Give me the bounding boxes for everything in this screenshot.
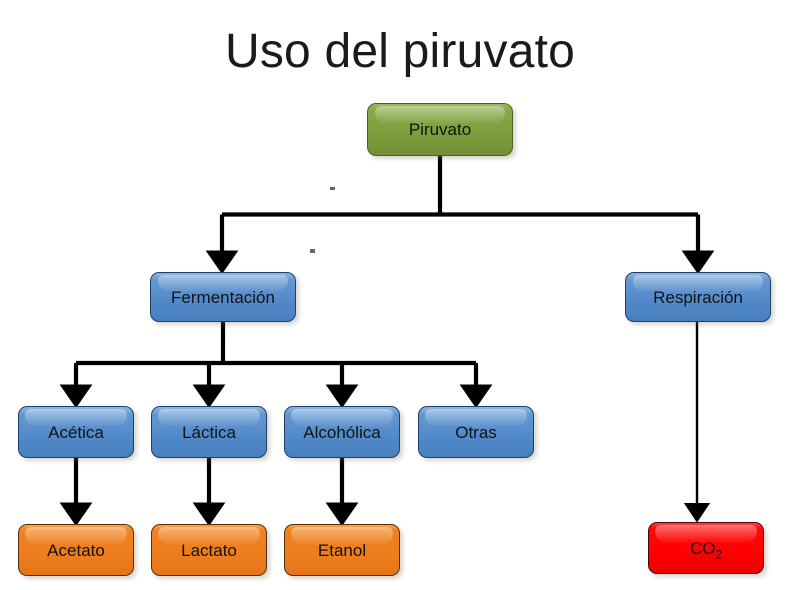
node-fermentacion[interactable]: Fermentación <box>150 272 296 322</box>
node-acetato[interactable]: Acetato <box>18 524 134 576</box>
node-piruvato[interactable]: Piruvato <box>367 103 513 156</box>
node-lactica-label: Láctica <box>182 424 236 441</box>
node-respiracion-label: Respiración <box>653 289 743 306</box>
node-respiracion[interactable]: Respiración <box>625 272 771 322</box>
node-lactica[interactable]: Láctica <box>151 406 267 458</box>
node-acetato-label: Acetato <box>47 542 105 559</box>
node-piruvato-label: Piruvato <box>409 121 471 138</box>
node-otras-label: Otras <box>455 424 497 441</box>
node-etanol-label: Etanol <box>318 542 366 559</box>
node-acetica[interactable]: Acética <box>18 406 134 458</box>
node-etanol[interactable]: Etanol <box>284 524 400 576</box>
node-co2-subscript: 2 <box>716 549 722 561</box>
node-co2[interactable]: CO2 <box>648 522 764 574</box>
node-lactato-label: Lactato <box>181 542 237 559</box>
node-acetica-label: Acética <box>48 424 104 441</box>
artifact-speck-lower <box>310 249 315 253</box>
node-alcoholica-label: Alcohólica <box>303 424 381 441</box>
page-title: Uso del piruvato <box>0 26 800 79</box>
artifact-speck-upper <box>330 187 335 190</box>
node-otras[interactable]: Otras <box>418 406 534 458</box>
node-co2-label: CO2 <box>690 540 722 557</box>
node-fermentacion-label: Fermentación <box>171 289 275 306</box>
diagram-canvas: Uso del piruvato <box>0 0 800 590</box>
node-co2-formula: CO <box>690 539 716 558</box>
node-alcoholica[interactable]: Alcohólica <box>284 406 400 458</box>
node-lactato[interactable]: Lactato <box>151 524 267 576</box>
